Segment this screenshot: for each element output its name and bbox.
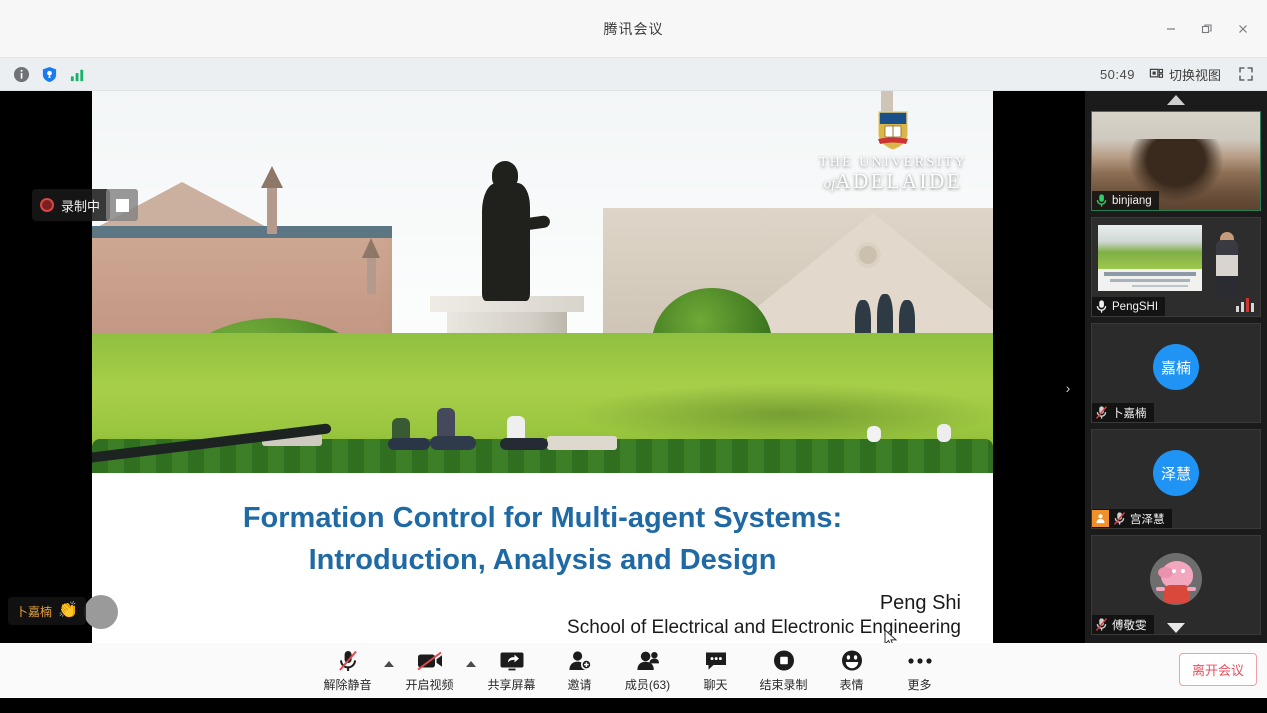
invite-label: 邀请 <box>567 676 591 693</box>
slide-title: Formation Control for Multi-agent System… <box>92 497 993 581</box>
panel-scroll-down-button[interactable] <box>1085 619 1267 637</box>
panel-scroll-up-button[interactable] <box>1085 91 1267 109</box>
host-badge <box>1092 510 1109 527</box>
person-decor <box>388 438 430 450</box>
invite-person-icon <box>568 649 592 673</box>
peppa-snout <box>1158 567 1173 578</box>
caret-up-icon <box>384 661 394 667</box>
window-title: 腾讯会议 <box>604 19 664 39</box>
participant-name: 宫泽慧 <box>1130 511 1165 527</box>
status-right-group: 50:49 切换视图 <box>1100 63 1267 85</box>
stop-record-icon <box>772 649 796 673</box>
spire-left <box>267 186 277 234</box>
unmute-button[interactable]: 解除静音 <box>314 643 382 698</box>
slide-thumb-text-line <box>1110 279 1190 282</box>
recording-dot-icon <box>40 198 54 212</box>
person-decor <box>500 438 548 450</box>
university-of: of <box>824 176 836 192</box>
slide-thumb-text-line <box>1104 272 1196 276</box>
more-dots-icon <box>907 649 933 673</box>
chevron-down-icon <box>1167 623 1185 633</box>
mic-muted-icon <box>1113 511 1126 526</box>
emoji-smile-icon <box>840 649 864 673</box>
info-icon[interactable] <box>10 63 32 85</box>
share-screen-button[interactable]: 共享屏幕 <box>478 643 546 698</box>
university-logo: THE UNIVERSITY ofADELAIDE <box>793 91 993 197</box>
participant-tile-binjiang[interactable]: binjiang <box>1091 111 1261 211</box>
more-label: 更多 <box>907 676 931 693</box>
start-video-button[interactable]: 开启视频 <box>396 643 464 698</box>
host-person-icon <box>1095 513 1106 524</box>
mouse-cursor <box>884 629 898 643</box>
toolbar-buttons: 解除静音 开启视频 <box>0 643 1267 698</box>
lawn-shadow <box>572 383 993 445</box>
status-icon-group <box>0 63 88 85</box>
more-button[interactable]: 更多 <box>886 643 954 698</box>
leave-meeting-button[interactable]: 离开会议 <box>1179 653 1257 686</box>
shield-icon[interactable] <box>38 63 60 85</box>
bench-decor <box>547 436 617 450</box>
meeting-toolbar: 解除静音 开启视频 <box>0 643 1267 698</box>
invite-button[interactable]: 邀请 <box>546 643 614 698</box>
members-label: 成员(63) <box>625 676 670 693</box>
person-decor <box>937 424 951 442</box>
university-name: THE UNIVERSITY ofADELAIDE <box>819 156 967 193</box>
stop-square-icon <box>116 199 129 212</box>
participant-name: 卜嘉楠 <box>1112 405 1147 421</box>
emoji-button[interactable]: 表情 <box>818 643 886 698</box>
slide-subtitle: Peng Shi School of Electrical and Electr… <box>201 591 961 640</box>
mic-unmuted-icon <box>1095 299 1108 314</box>
switch-view-button[interactable]: 切换视图 <box>1149 65 1221 84</box>
lawn <box>92 333 993 473</box>
university-line-1: THE UNIVERSITY <box>819 156 967 171</box>
peppa-eye <box>1181 569 1185 573</box>
slide-photo: THE UNIVERSITY ofADELAIDE <box>92 91 993 473</box>
chevron-up-icon <box>1167 95 1185 105</box>
collapse-panel-chevron-icon[interactable]: › <box>1061 374 1075 402</box>
switch-view-label: 切换视图 <box>1169 65 1221 84</box>
participant-tile-gongzehui[interactable]: 泽慧 宫泽慧 <box>1091 429 1261 529</box>
university-line-2: ofADELAIDE <box>819 170 967 193</box>
presenter-body <box>1216 240 1238 298</box>
participant-avatar-image <box>1150 553 1202 605</box>
slide-thumb-text-line <box>1132 285 1188 287</box>
caret-up-icon <box>466 661 476 667</box>
close-button[interactable] <box>1225 12 1261 46</box>
restore-button[interactable] <box>1189 12 1225 46</box>
window-controls <box>1153 0 1261 58</box>
shared-slide-thumbnail <box>1098 225 1202 291</box>
recording-label: 录制中 <box>61 196 100 215</box>
participant-tile-pengshi[interactable]: PengSHI <box>1091 217 1261 317</box>
share-screen-label: 共享屏幕 <box>487 676 535 693</box>
mic-muted-icon <box>1095 405 1108 420</box>
adelaide-crest-icon <box>876 110 910 152</box>
start-video-label: 开启视频 <box>405 676 453 693</box>
slide-thumb-photo <box>1098 225 1202 269</box>
participant-name-bar: 宫泽慧 <box>1092 509 1172 528</box>
university-adelaide: ADELAIDE <box>835 169 962 193</box>
audio-level-icon <box>1236 298 1254 312</box>
person-decor <box>430 436 476 450</box>
participant-name-bar: PengSHI <box>1092 297 1165 316</box>
chat-button[interactable]: 聊天 <box>682 643 750 698</box>
stop-recording-button[interactable]: 结束录制 <box>750 643 818 698</box>
participant-name: binjiang <box>1112 195 1152 207</box>
slide-affiliation: School of Electrical and Electronic Engi… <box>201 616 961 640</box>
statue-figure <box>482 183 530 301</box>
signal-icon[interactable] <box>66 63 88 85</box>
meeting-timer: 50:49 <box>1100 67 1135 82</box>
clap-emoji-icon: 👏 <box>58 603 78 619</box>
share-screen-icon <box>499 649 525 673</box>
mic-unmuted-icon <box>1095 193 1108 208</box>
slide-title-line-1: Formation Control for Multi-agent System… <box>132 497 953 539</box>
switch-view-icon <box>1149 67 1164 82</box>
mic-options-caret[interactable] <box>382 643 396 698</box>
fullscreen-icon[interactable] <box>1235 63 1257 85</box>
chat-label: 聊天 <box>703 676 727 693</box>
participant-avatar: 嘉楠 <box>1153 344 1199 390</box>
spire-left-2 <box>367 256 376 294</box>
building-left-roof <box>92 226 392 238</box>
participant-name: PengSHI <box>1112 301 1158 313</box>
participant-tile-bujianan[interactable]: 嘉楠 卜嘉楠 <box>1091 323 1261 423</box>
video-off-icon <box>416 649 444 673</box>
meeting-status-bar: 50:49 切换视图 <box>0 58 1267 91</box>
stop-recording-label: 结束录制 <box>759 676 807 693</box>
slide-title-line-2: Introduction, Analysis and Design <box>132 539 953 581</box>
members-button[interactable]: 成员(63) <box>614 643 682 698</box>
recording-stop-button[interactable] <box>106 189 138 221</box>
participant-panel: binjiang <box>1085 91 1267 643</box>
window-footer <box>0 698 1267 713</box>
peppa-arm <box>1187 587 1196 591</box>
participant-name-bar: 卜嘉楠 <box>1092 403 1154 422</box>
slide-presenter: Peng Shi <box>201 591 961 616</box>
video-options-caret[interactable] <box>464 643 478 698</box>
person-decor <box>437 408 455 438</box>
members-icon <box>636 649 660 673</box>
mic-muted-icon <box>337 649 359 673</box>
chat-bubble-icon <box>704 649 728 673</box>
presentation-slide: THE UNIVERSITY ofADELAIDE Formation Cont… <box>92 91 993 643</box>
reaction-name: 卜嘉楠 <box>16 603 52 620</box>
participant-tiles: binjiang <box>1085 109 1267 637</box>
participant-avatar: 泽慧 <box>1153 450 1199 496</box>
recording-indicator: 录制中 <box>32 189 110 221</box>
reaction-avatar <box>84 595 118 629</box>
tencent-meeting-window: 腾讯会议 <box>0 0 1267 713</box>
participant-name-bar: binjiang <box>1092 191 1159 210</box>
unmute-label: 解除静音 <box>323 676 371 693</box>
minimize-button[interactable] <box>1153 12 1189 46</box>
title-bar: 腾讯会议 <box>0 0 1267 58</box>
person-decor <box>867 426 881 442</box>
shared-screen-stage[interactable]: THE UNIVERSITY ofADELAIDE Formation Cont… <box>0 91 1085 643</box>
reaction-overlay: 卜嘉楠 👏 <box>8 597 86 625</box>
peppa-arm <box>1156 587 1165 591</box>
rose-window-icon <box>855 242 881 268</box>
emoji-label: 表情 <box>839 676 863 693</box>
peppa-eye <box>1172 569 1176 573</box>
